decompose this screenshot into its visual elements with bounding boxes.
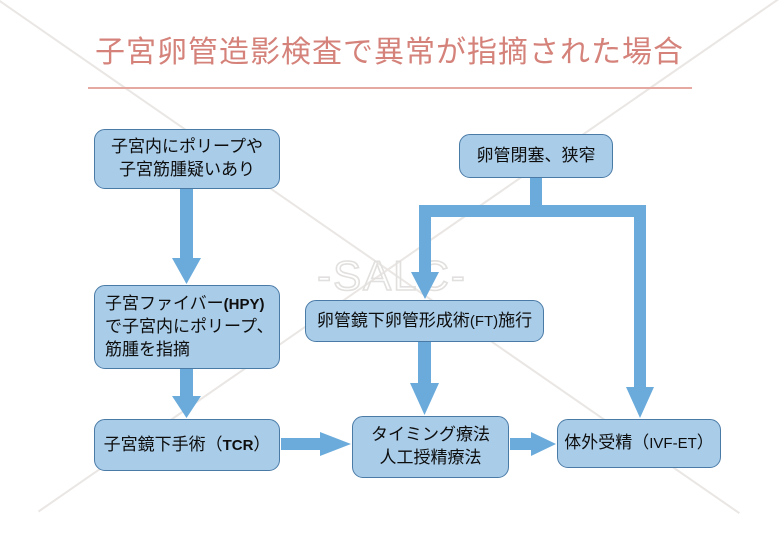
node-ft-abbr: (FT) xyxy=(470,313,498,330)
node-timing-line1: タイミング療法 xyxy=(371,424,490,447)
flowchart-canvas: 子宮卵管造影検査で異常が指摘された場合 -SALC- xyxy=(0,0,779,539)
node-tubal-label: 卵管閉塞、狭窄 xyxy=(477,145,596,168)
node-fiber-line2: で子宮内にポリープ、 xyxy=(105,316,273,339)
node-tubal-occlusion-stenosis[interactable]: 卵管閉塞、狭窄 xyxy=(459,134,613,178)
node-ft-pre: 卵管鏡下卵管形成術 xyxy=(317,311,470,331)
node-fiber-line1-text: 子宮ファイバー xyxy=(105,294,224,314)
node-fiber-line3: 筋腫を指摘 xyxy=(105,339,190,362)
page-title-block: 子宮卵管造影検査で異常が指摘された場合 xyxy=(0,33,779,73)
arrow-timing-to-ivf xyxy=(510,432,556,456)
arrow-fiber-to-tcr xyxy=(172,369,201,418)
node-tcr-post: ） xyxy=(253,435,270,455)
node-tcr-line: 子宮鏡下手術（TCR） xyxy=(104,434,271,457)
node-hysteroscopic-surgery-tcr[interactable]: 子宮鏡下手術（TCR） xyxy=(94,419,280,471)
node-ft-post: 施行 xyxy=(498,311,532,331)
node-hysteroscopy-fiber[interactable]: 子宮ファイバー(HPY) で子宮内にポリープ、 筋腫を指摘 xyxy=(94,285,280,369)
arrow-bus-to-ft xyxy=(411,205,439,299)
node-ivf-line: 体外受精（IVF-ET） xyxy=(564,432,714,455)
node-falloposcopic-tuboplasty-ft[interactable]: 卵管鏡下卵管形成術(FT)施行 xyxy=(305,300,544,342)
arrow-polyp-to-fiber xyxy=(172,189,201,284)
arrow-bus-to-ivf xyxy=(626,205,654,418)
arrow-tcr-to-timing xyxy=(281,432,351,456)
node-polyp-line1: 子宮内にポリープや xyxy=(111,136,263,159)
node-uterine-polyp-suspicion[interactable]: 子宮内にポリープや 子宮筋腫疑いあり xyxy=(94,129,280,189)
watermark-text: -SALC- xyxy=(297,252,487,300)
page-title: 子宮卵管造影検査で異常が指摘された場合 xyxy=(0,33,779,73)
title-underline-rule xyxy=(88,87,692,89)
node-polyp-line2: 子宮筋腫疑いあり xyxy=(119,159,255,182)
node-timing-and-insemination-therapy[interactable]: タイミング療法 人工授精療法 xyxy=(352,416,509,478)
arrow-tubal-split-bus xyxy=(419,178,646,217)
node-tcr-pre: 子宮鏡下手術（ xyxy=(104,435,223,455)
node-timing-line2: 人工授精療法 xyxy=(380,447,482,470)
node-ivf-et[interactable]: 体外受精（IVF-ET） xyxy=(557,419,721,468)
node-ft-line: 卵管鏡下卵管形成術(FT)施行 xyxy=(317,310,532,333)
arrow-ft-to-timing xyxy=(410,342,439,415)
node-fiber-line1-abbr: (HPY) xyxy=(224,296,265,313)
node-fiber-line1: 子宮ファイバー(HPY) xyxy=(105,293,265,316)
node-ivf-pre: 体外受精（ xyxy=(564,433,649,453)
node-ivf-post: ） xyxy=(697,433,714,453)
node-ivf-abbr: IVF-ET xyxy=(649,435,697,452)
node-tcr-abbr: TCR xyxy=(223,437,254,454)
